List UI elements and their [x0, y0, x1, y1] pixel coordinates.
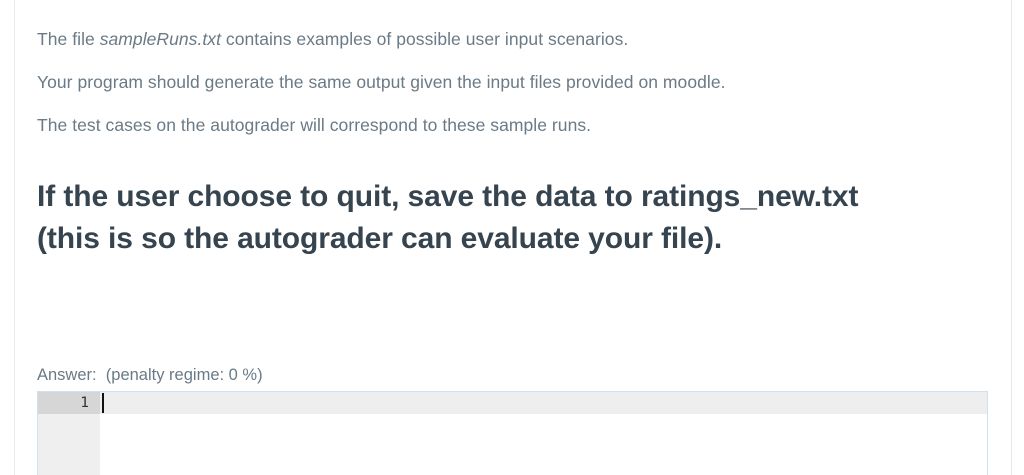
code-text-area[interactable]: [100, 392, 987, 475]
paragraph-3-text: The test cases on the autograder will co…: [37, 115, 591, 135]
paragraph-1-text-after: contains examples of possible user input…: [221, 29, 628, 49]
page-left-border: [14, 0, 15, 475]
page-right-border: [1011, 0, 1012, 475]
question-heading: If the user choose to quit, save the dat…: [37, 176, 877, 260]
code-editor[interactable]: 1: [37, 391, 988, 475]
question-paragraph-3: The test cases on the autograder will co…: [37, 114, 591, 138]
active-line-highlight: [100, 392, 988, 414]
line-number-blank-1: [38, 414, 100, 436]
line-number-1: 1: [38, 392, 100, 414]
question-page: The file sampleRuns.txt contains example…: [0, 0, 1024, 475]
line-number-blank-2: [38, 436, 100, 458]
paragraph-1-filename-emphasis: sampleRuns.txt: [100, 29, 221, 49]
paragraph-2-text: Your program should generate the same ou…: [37, 72, 726, 92]
question-paragraph-2: Your program should generate the same ou…: [37, 71, 726, 95]
line-number-blank-3: [38, 458, 100, 475]
paragraph-1-text-before: The file: [37, 29, 100, 49]
answer-label: Answer: (penalty regime: 0 %): [37, 366, 263, 386]
text-caret: [102, 393, 104, 413]
code-editor-inner[interactable]: 1: [38, 392, 987, 475]
question-paragraph-1: The file sampleRuns.txt contains example…: [37, 28, 628, 52]
line-number-gutter: 1: [38, 392, 100, 475]
